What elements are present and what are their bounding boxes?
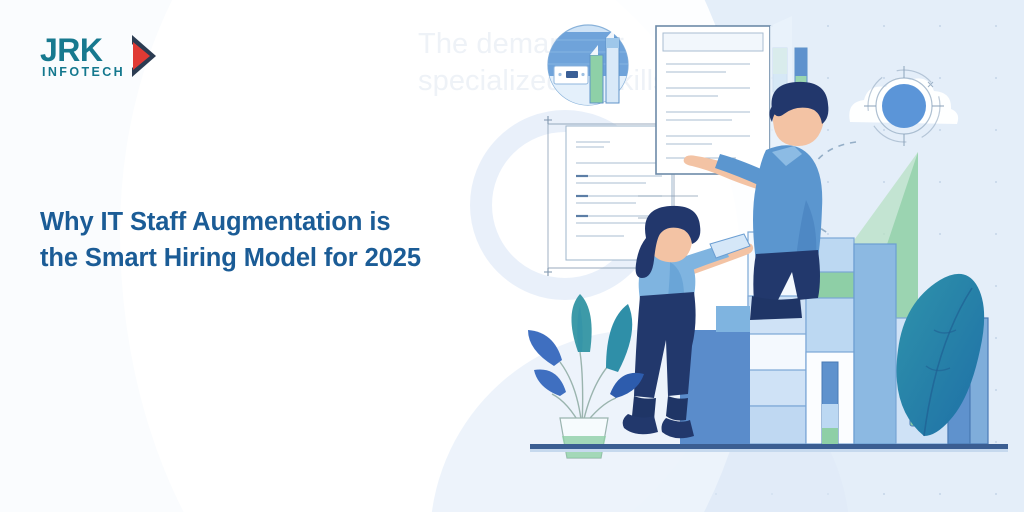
- circular-analytics-icon: [548, 25, 628, 108]
- potted-plant: [528, 294, 644, 458]
- headline-line-2: the Smart Hiring Model for 2025: [40, 244, 421, 272]
- blog-banner: The demand for specialized IT skills JRK…: [0, 0, 1024, 512]
- page-title: Why IT Staff Augmentation is the Smart H…: [40, 204, 490, 276]
- floor-line: [530, 444, 1008, 452]
- logo-wordmark: JRK: [40, 32, 103, 68]
- logo-chevron-icon: [132, 35, 156, 77]
- hero-illustration: [520, 0, 1024, 512]
- cloud-tech-icon: [849, 66, 958, 146]
- headline-line-1: Why IT Staff Augmentation is: [40, 208, 390, 236]
- logo-tagline: INFOTECH: [42, 65, 125, 79]
- jrk-infotech-logo[interactable]: JRK INFOTECH: [40, 31, 170, 83]
